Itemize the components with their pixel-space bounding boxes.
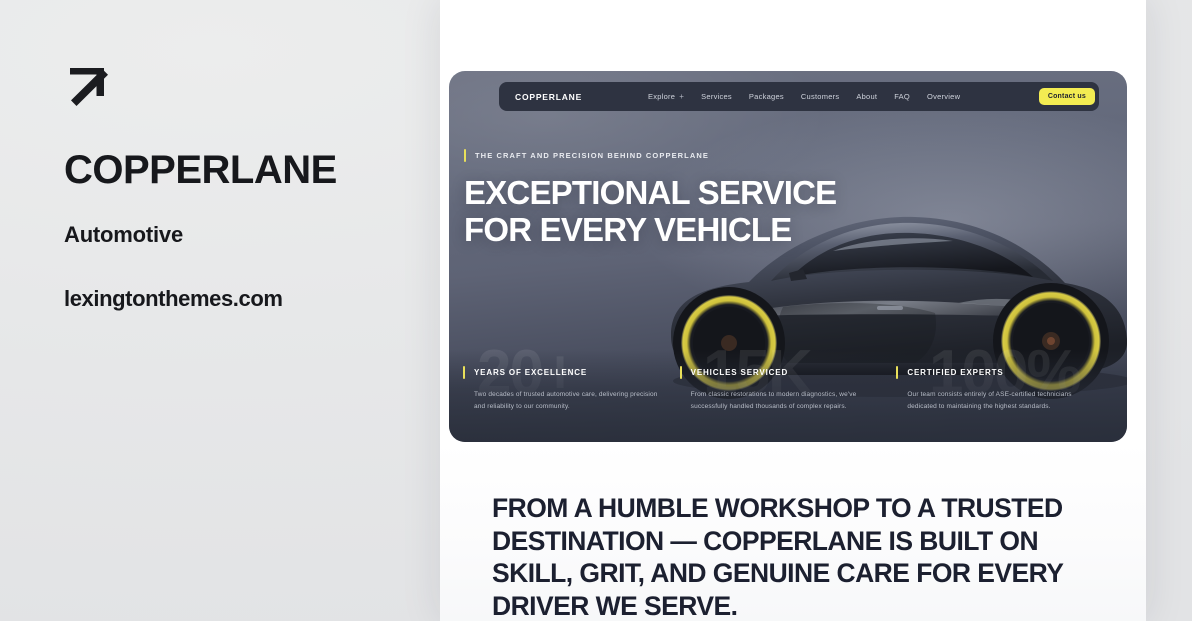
- site-navbar: COPPERLANE Explore+ Services Packages Cu…: [499, 82, 1099, 111]
- stat-body: Two decades of trusted automotive care, …: [474, 389, 662, 413]
- promo-url: lexingtonthemes.com: [64, 286, 404, 312]
- hero-heading-line2: FOR EVERY VEHICLE: [464, 212, 836, 249]
- stat-head: VEHICLES SERVICED: [680, 366, 879, 379]
- promo-category: Automotive: [64, 222, 404, 248]
- navbar-brand[interactable]: COPPERLANE: [515, 92, 582, 102]
- navbar-links: Explore+ Services Packages Customers Abo…: [648, 92, 960, 101]
- about-heading: FROM A HUMBLE WORKSHOP TO A TRUSTED DEST…: [492, 492, 1094, 621]
- hero-eyebrow: THE CRAFT AND PRECISION BEHIND COPPERLAN…: [464, 149, 709, 162]
- stat-body: Our team consists entirely of ASE-certif…: [907, 389, 1095, 413]
- hero-heading-line1: EXCEPTIONAL SERVICE: [464, 175, 836, 212]
- accent-bar: [896, 366, 898, 379]
- nav-item-overview[interactable]: Overview: [927, 92, 960, 101]
- about-section: FROM A HUMBLE WORKSHOP TO A TRUSTED DEST…: [440, 442, 1146, 621]
- accent-bar: [680, 366, 682, 379]
- nav-item-packages[interactable]: Packages: [749, 92, 784, 101]
- stat-title: YEARS OF EXCELLENCE: [474, 368, 587, 377]
- stat-title: CERTIFIED EXPERTS: [907, 368, 1003, 377]
- accent-bar: [463, 366, 465, 379]
- accent-bar: [464, 149, 466, 162]
- contact-us-button[interactable]: Contact us: [1039, 88, 1095, 105]
- promo-title: COPPERLANE: [64, 150, 404, 190]
- plus-icon: +: [679, 92, 684, 101]
- stat-certified-experts: CERTIFIED EXPERTS Our team consists enti…: [896, 366, 1113, 442]
- stat-vehicles-serviced: VEHICLES SERVICED From classic restorati…: [680, 366, 897, 442]
- nav-item-explore-label: Explore: [648, 92, 675, 101]
- stat-head: YEARS OF EXCELLENCE: [463, 366, 662, 379]
- hero-heading: EXCEPTIONAL SERVICE FOR EVERY VEHICLE: [464, 175, 836, 249]
- stat-head: CERTIFIED EXPERTS: [896, 366, 1095, 379]
- nav-item-explore[interactable]: Explore+: [648, 92, 684, 101]
- hero-stats: YEARS OF EXCELLENCE Two decades of trust…: [449, 350, 1127, 442]
- stat-years-of-excellence: YEARS OF EXCELLENCE Two decades of trust…: [463, 366, 680, 442]
- nav-item-about[interactable]: About: [856, 92, 877, 101]
- hero-eyebrow-text: THE CRAFT AND PRECISION BEHIND COPPERLAN…: [475, 151, 709, 160]
- stat-body: From classic restorations to modern diag…: [691, 389, 879, 413]
- nav-item-services[interactable]: Services: [701, 92, 732, 101]
- screenshot-canvas: COPPERLANE Automotive lexingtonthemes.co…: [0, 0, 1192, 621]
- hero-section: COPPERLANE Explore+ Services Packages Cu…: [449, 71, 1127, 442]
- stat-title: VEHICLES SERVICED: [691, 368, 788, 377]
- arrow-up-right-logo-icon: [64, 66, 112, 110]
- nav-item-customers[interactable]: Customers: [801, 92, 840, 101]
- nav-item-faq[interactable]: FAQ: [894, 92, 910, 101]
- promo-panel: COPPERLANE Automotive lexingtonthemes.co…: [64, 66, 404, 312]
- website-preview-panel: COPPERLANE Explore+ Services Packages Cu…: [440, 0, 1146, 621]
